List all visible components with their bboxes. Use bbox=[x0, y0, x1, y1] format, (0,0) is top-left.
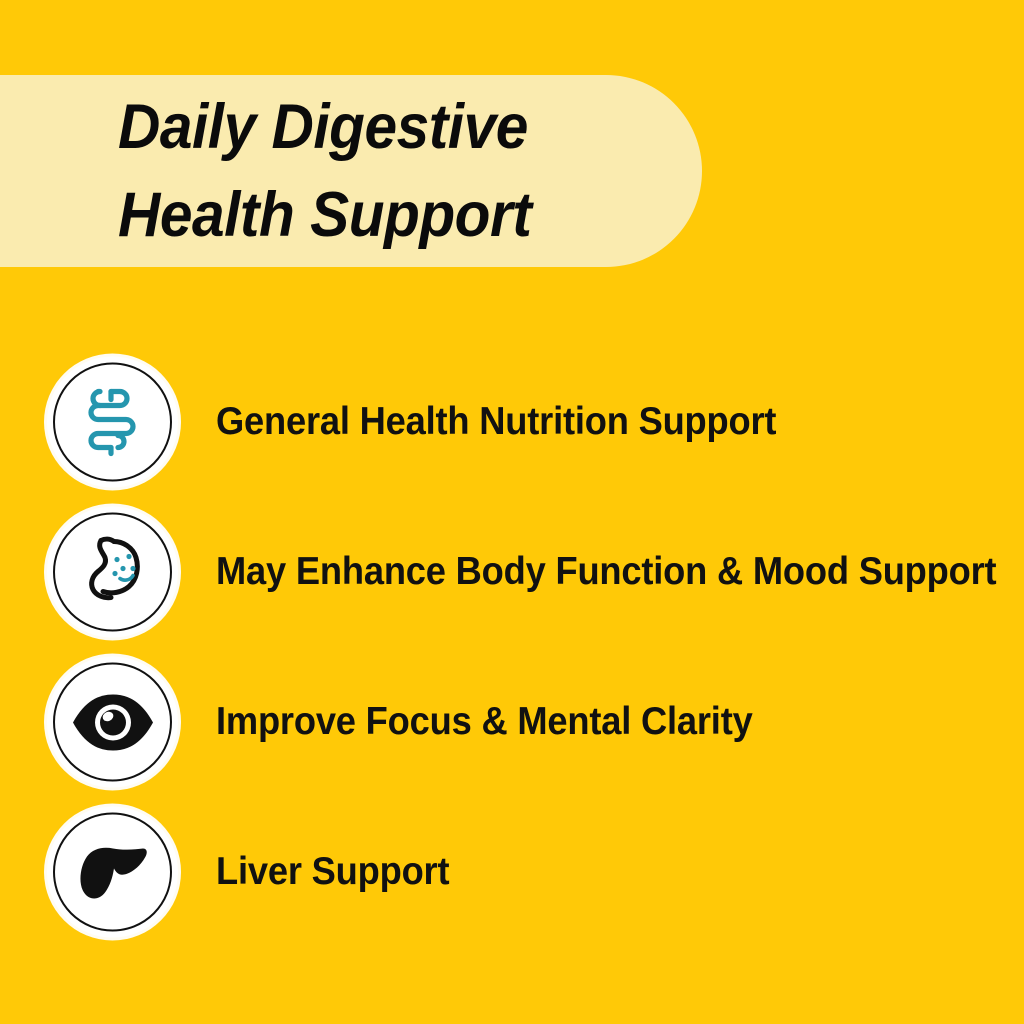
eye-icon bbox=[67, 676, 159, 768]
icon-circle-stomach bbox=[47, 507, 178, 638]
icon-circle-intestine bbox=[47, 357, 178, 488]
page-title-line-1: Daily Digestive bbox=[118, 83, 661, 171]
stomach-icon bbox=[71, 530, 155, 614]
list-item[interactable]: Improve Focus & Mental Clarity bbox=[0, 647, 1024, 797]
icon-circle-liver bbox=[47, 807, 178, 938]
list-item-label: Liver Support bbox=[216, 850, 449, 894]
list-item[interactable]: May Enhance Body Function & Mood Support bbox=[0, 497, 1024, 647]
intestine-icon bbox=[71, 380, 155, 464]
page-title-line-2: Health Support bbox=[118, 171, 661, 259]
benefits-list: General Health Nutrition Support May Enh… bbox=[0, 347, 1024, 947]
list-item-label: Improve Focus & Mental Clarity bbox=[216, 700, 753, 744]
list-item[interactable]: General Health Nutrition Support bbox=[0, 347, 1024, 497]
title-banner: Daily Digestive Health Support bbox=[0, 75, 702, 267]
list-item[interactable]: Liver Support bbox=[0, 797, 1024, 947]
list-item-label: May Enhance Body Function & Mood Support bbox=[216, 550, 996, 594]
icon-circle-eye bbox=[47, 657, 178, 788]
list-item-label: General Health Nutrition Support bbox=[216, 400, 776, 444]
product-benefits-poster: Daily Digestive Health Support General H… bbox=[0, 0, 1024, 1024]
liver-icon bbox=[67, 826, 159, 918]
